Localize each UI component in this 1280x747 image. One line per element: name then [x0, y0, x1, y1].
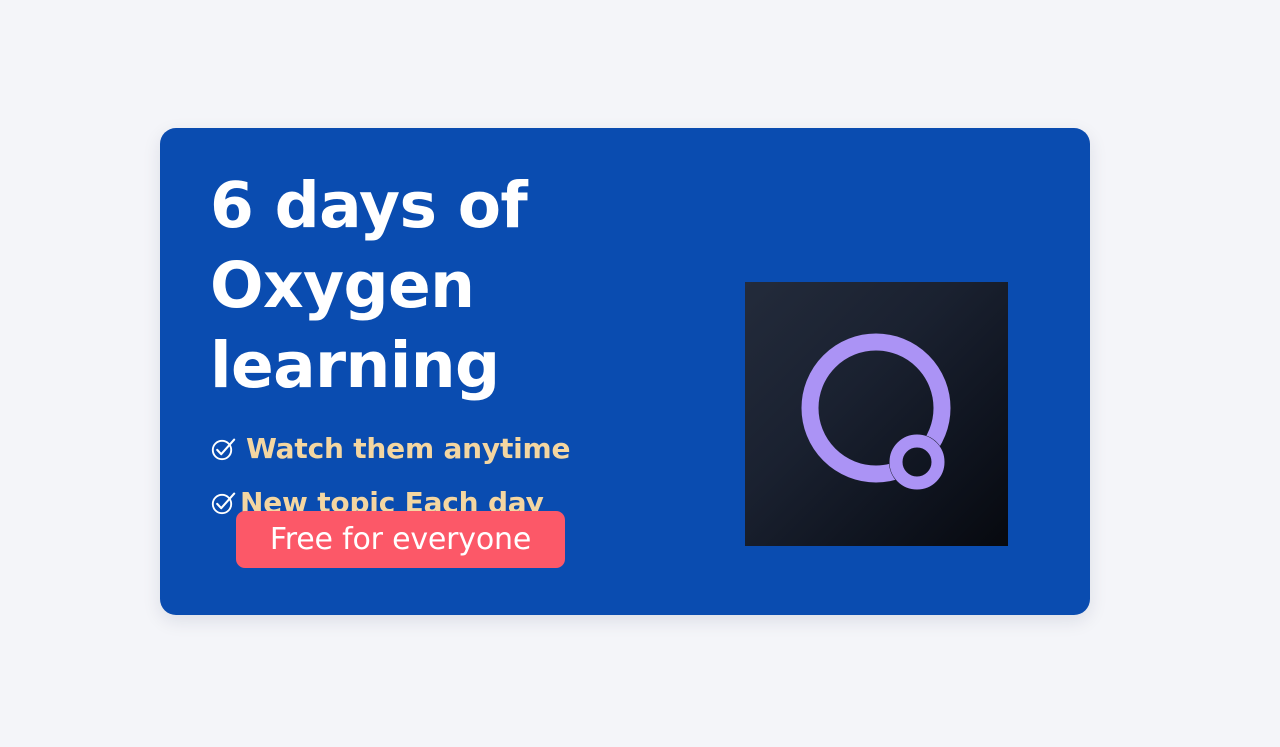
page-title: 6 days of Oxygen learning [210, 166, 790, 406]
promo-copy-block: 6 days of Oxygen learning Watch them any… [210, 166, 790, 540]
free-for-everyone-button[interactable]: Free for everyone [236, 511, 565, 568]
circled-check-icon [210, 490, 236, 516]
benefit-list: Watch them anytime New topic Each day [210, 432, 790, 520]
promo-card-inner: 6 days of Oxygen learning Watch them any… [160, 128, 1090, 615]
oxygen-q-logo [745, 282, 1008, 546]
promo-card: 6 days of Oxygen learning Watch them any… [160, 128, 1090, 615]
circled-check-icon [210, 436, 236, 462]
list-item: Watch them anytime [210, 432, 790, 466]
benefit-label: Watch them anytime [246, 435, 570, 463]
